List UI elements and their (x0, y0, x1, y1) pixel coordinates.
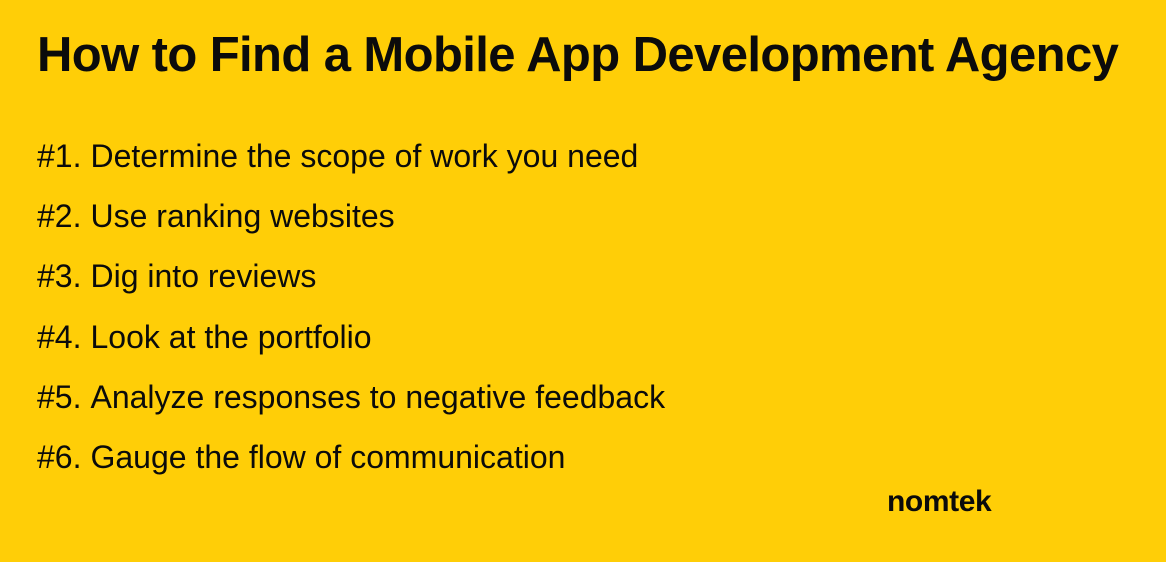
step-index: #2. (37, 200, 81, 233)
list-item: #5. Analyze responses to negative feedba… (37, 381, 1037, 441)
step-index: #6. (37, 441, 81, 474)
list-item: #4. Look at the portfolio (37, 321, 1037, 381)
step-text: Look at the portfolio (90, 321, 371, 354)
step-index: #3. (37, 260, 81, 293)
slide-canvas: How to Find a Mobile App Development Age… (0, 0, 1166, 562)
step-text: Dig into reviews (90, 260, 316, 293)
step-text: Determine the scope of work you need (90, 140, 638, 173)
step-text: Analyze responses to negative feedback (90, 381, 665, 414)
brand-logo: nomtek (887, 485, 991, 519)
steps-list: #1. Determine the scope of work you need… (37, 140, 1037, 501)
step-index: #5. (37, 381, 81, 414)
list-item: #3. Dig into reviews (37, 260, 1037, 320)
step-text: Use ranking websites (90, 200, 394, 233)
step-index: #4. (37, 321, 81, 354)
list-item: #2. Use ranking websites (37, 200, 1037, 260)
step-index: #1. (37, 140, 81, 173)
step-text: Gauge the flow of communication (90, 441, 565, 474)
list-item: #1. Determine the scope of work you need (37, 140, 1037, 200)
page-title: How to Find a Mobile App Development Age… (37, 26, 1118, 84)
